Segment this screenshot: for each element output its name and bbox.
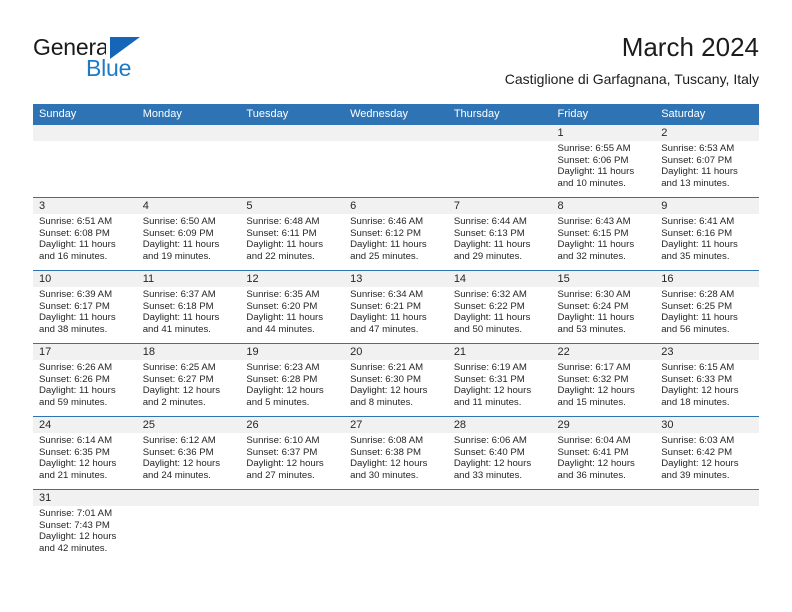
day-detail-line: and 11 minutes. — [454, 397, 546, 409]
calendar-week-row: 10Sunrise: 6:39 AMSunset: 6:17 PMDayligh… — [33, 270, 759, 343]
day-detail-line: Sunrise: 6:39 AM — [39, 289, 131, 301]
day-detail-line: Sunset: 6:35 PM — [39, 447, 131, 459]
day-detail-line: Sunrise: 6:25 AM — [143, 362, 235, 374]
day-detail-line: and 16 minutes. — [39, 251, 131, 263]
day-number: 14 — [448, 271, 552, 287]
day-details: Sunrise: 6:15 AMSunset: 6:33 PMDaylight:… — [655, 360, 759, 408]
day-number — [137, 125, 241, 141]
day-cell-empty — [448, 125, 552, 197]
day-details: Sunrise: 6:04 AMSunset: 6:41 PMDaylight:… — [552, 433, 656, 481]
calendar-page: General Blue March 2024 Castiglione di G… — [0, 0, 792, 612]
day-detail-line: Sunrise: 6:30 AM — [558, 289, 650, 301]
day-cell-17[interactable]: 17Sunrise: 6:26 AMSunset: 6:26 PMDayligh… — [33, 344, 137, 416]
day-cell-4[interactable]: 4Sunrise: 6:50 AMSunset: 6:09 PMDaylight… — [137, 198, 241, 270]
day-detail-line: Sunrise: 6:37 AM — [143, 289, 235, 301]
day-detail-line: Daylight: 12 hours — [350, 458, 442, 470]
day-detail-line: Daylight: 12 hours — [350, 385, 442, 397]
calendar-week-row: 31Sunrise: 7:01 AMSunset: 7:43 PMDayligh… — [33, 489, 759, 562]
day-cell-empty — [33, 125, 137, 197]
day-detail-line: Sunrise: 6:32 AM — [454, 289, 546, 301]
calendar-grid: SundayMondayTuesdayWednesdayThursdayFrid… — [33, 104, 759, 562]
calendar-week-row: 24Sunrise: 6:14 AMSunset: 6:35 PMDayligh… — [33, 416, 759, 489]
day-number — [448, 125, 552, 141]
day-number: 3 — [33, 198, 137, 214]
day-detail-line: Sunset: 6:20 PM — [246, 301, 338, 313]
day-details: Sunrise: 6:14 AMSunset: 6:35 PMDaylight:… — [33, 433, 137, 481]
day-cell-empty — [552, 490, 656, 562]
day-detail-line: Sunset: 6:08 PM — [39, 228, 131, 240]
day-number — [552, 490, 656, 506]
day-number: 1 — [552, 125, 656, 141]
day-detail-line: Sunset: 6:28 PM — [246, 374, 338, 386]
day-details — [448, 141, 552, 143]
day-detail-line: Sunset: 6:41 PM — [558, 447, 650, 459]
day-detail-line: Sunrise: 6:50 AM — [143, 216, 235, 228]
day-number: 20 — [344, 344, 448, 360]
day-detail-line: Daylight: 12 hours — [246, 458, 338, 470]
day-detail-line: Sunset: 6:32 PM — [558, 374, 650, 386]
day-details — [240, 506, 344, 508]
day-detail-line: Sunset: 6:26 PM — [39, 374, 131, 386]
day-detail-line: Sunrise: 6:46 AM — [350, 216, 442, 228]
day-details — [552, 506, 656, 508]
day-detail-line: Daylight: 11 hours — [350, 312, 442, 324]
day-detail-line: Sunset: 6:33 PM — [661, 374, 753, 386]
day-cell-31[interactable]: 31Sunrise: 7:01 AMSunset: 7:43 PMDayligh… — [33, 490, 137, 562]
day-detail-line: Daylight: 12 hours — [661, 385, 753, 397]
day-cell-25[interactable]: 25Sunrise: 6:12 AMSunset: 6:36 PMDayligh… — [137, 417, 241, 489]
day-detail-line: Sunrise: 6:04 AM — [558, 435, 650, 447]
day-cell-21[interactable]: 21Sunrise: 6:19 AMSunset: 6:31 PMDayligh… — [448, 344, 552, 416]
day-detail-line: Daylight: 12 hours — [39, 458, 131, 470]
day-detail-line: Sunrise: 7:01 AM — [39, 508, 131, 520]
day-detail-line: Sunset: 6:31 PM — [454, 374, 546, 386]
day-detail-line: Sunset: 6:40 PM — [454, 447, 546, 459]
day-number: 31 — [33, 490, 137, 506]
day-detail-line: Daylight: 11 hours — [143, 312, 235, 324]
day-cell-29[interactable]: 29Sunrise: 6:04 AMSunset: 6:41 PMDayligh… — [552, 417, 656, 489]
day-number — [344, 490, 448, 506]
day-detail-line: Sunset: 6:21 PM — [350, 301, 442, 313]
day-details: Sunrise: 6:48 AMSunset: 6:11 PMDaylight:… — [240, 214, 344, 262]
day-cell-10[interactable]: 10Sunrise: 6:39 AMSunset: 6:17 PMDayligh… — [33, 271, 137, 343]
day-detail-line: and 22 minutes. — [246, 251, 338, 263]
day-cell-12[interactable]: 12Sunrise: 6:35 AMSunset: 6:20 PMDayligh… — [240, 271, 344, 343]
day-cell-22[interactable]: 22Sunrise: 6:17 AMSunset: 6:32 PMDayligh… — [552, 344, 656, 416]
day-detail-line: and 59 minutes. — [39, 397, 131, 409]
day-cell-6[interactable]: 6Sunrise: 6:46 AMSunset: 6:12 PMDaylight… — [344, 198, 448, 270]
day-details: Sunrise: 6:21 AMSunset: 6:30 PMDaylight:… — [344, 360, 448, 408]
calendar-weeks: 1Sunrise: 6:55 AMSunset: 6:06 PMDaylight… — [33, 125, 759, 562]
day-detail-line: Daylight: 12 hours — [558, 458, 650, 470]
day-cell-empty — [448, 490, 552, 562]
day-details: Sunrise: 6:25 AMSunset: 6:27 PMDaylight:… — [137, 360, 241, 408]
day-detail-line: Sunset: 6:16 PM — [661, 228, 753, 240]
day-cell-empty — [655, 490, 759, 562]
day-detail-line: and 29 minutes. — [454, 251, 546, 263]
day-detail-line: Sunset: 6:30 PM — [350, 374, 442, 386]
day-number: 15 — [552, 271, 656, 287]
day-detail-line: Sunset: 6:25 PM — [661, 301, 753, 313]
day-number: 21 — [448, 344, 552, 360]
day-number — [448, 490, 552, 506]
day-detail-line: Daylight: 11 hours — [558, 312, 650, 324]
day-detail-line: Sunset: 6:37 PM — [246, 447, 338, 459]
day-details: Sunrise: 6:28 AMSunset: 6:25 PMDaylight:… — [655, 287, 759, 335]
day-number: 10 — [33, 271, 137, 287]
day-number: 2 — [655, 125, 759, 141]
day-details: Sunrise: 6:10 AMSunset: 6:37 PMDaylight:… — [240, 433, 344, 481]
general-blue-logo[interactable]: General Blue — [33, 36, 203, 92]
day-details: Sunrise: 6:41 AMSunset: 6:16 PMDaylight:… — [655, 214, 759, 262]
day-cell-empty — [240, 490, 344, 562]
day-number: 8 — [552, 198, 656, 214]
day-cell-28[interactable]: 28Sunrise: 6:06 AMSunset: 6:40 PMDayligh… — [448, 417, 552, 489]
day-detail-line: Sunset: 6:17 PM — [39, 301, 131, 313]
day-detail-line: and 13 minutes. — [661, 178, 753, 190]
day-detail-line: Daylight: 11 hours — [246, 239, 338, 251]
day-number: 25 — [137, 417, 241, 433]
day-number: 4 — [137, 198, 241, 214]
day-detail-line: Daylight: 11 hours — [661, 239, 753, 251]
day-detail-line: Sunrise: 6:06 AM — [454, 435, 546, 447]
day-number: 24 — [33, 417, 137, 433]
page-title: March 2024 — [239, 30, 759, 64]
day-detail-line: Sunset: 6:15 PM — [558, 228, 650, 240]
day-cell-26[interactable]: 26Sunrise: 6:10 AMSunset: 6:37 PMDayligh… — [240, 417, 344, 489]
day-detail-line: Sunset: 6:06 PM — [558, 155, 650, 167]
day-cell-11[interactable]: 11Sunrise: 6:37 AMSunset: 6:18 PMDayligh… — [137, 271, 241, 343]
day-detail-line: Daylight: 11 hours — [39, 385, 131, 397]
day-detail-line: Sunrise: 6:26 AM — [39, 362, 131, 374]
day-details: Sunrise: 6:51 AMSunset: 6:08 PMDaylight:… — [33, 214, 137, 262]
day-detail-line: Daylight: 11 hours — [558, 239, 650, 251]
day-number — [137, 490, 241, 506]
day-number: 19 — [240, 344, 344, 360]
day-detail-line: Sunrise: 6:23 AM — [246, 362, 338, 374]
day-detail-line: Sunrise: 6:48 AM — [246, 216, 338, 228]
day-details — [137, 506, 241, 508]
day-number: 11 — [137, 271, 241, 287]
day-number: 6 — [344, 198, 448, 214]
day-details: Sunrise: 6:43 AMSunset: 6:15 PMDaylight:… — [552, 214, 656, 262]
calendar-week-row: 1Sunrise: 6:55 AMSunset: 6:06 PMDaylight… — [33, 125, 759, 197]
day-detail-line: Sunset: 6:12 PM — [350, 228, 442, 240]
day-number: 22 — [552, 344, 656, 360]
day-detail-line: Sunrise: 6:53 AM — [661, 143, 753, 155]
day-detail-line: Daylight: 11 hours — [350, 239, 442, 251]
day-number: 23 — [655, 344, 759, 360]
day-detail-line: Sunset: 6:11 PM — [246, 228, 338, 240]
day-detail-line: and 25 minutes. — [350, 251, 442, 263]
day-detail-line: Daylight: 11 hours — [246, 312, 338, 324]
day-number — [344, 125, 448, 141]
day-detail-line: Daylight: 11 hours — [143, 239, 235, 251]
day-number: 5 — [240, 198, 344, 214]
day-cell-empty — [344, 125, 448, 197]
day-detail-line: Daylight: 12 hours — [558, 385, 650, 397]
day-cell-3[interactable]: 3Sunrise: 6:51 AMSunset: 6:08 PMDaylight… — [33, 198, 137, 270]
logo-text-blue: Blue — [86, 57, 131, 80]
day-number: 16 — [655, 271, 759, 287]
day-detail-line: and 56 minutes. — [661, 324, 753, 336]
day-details — [137, 141, 241, 143]
day-number: 13 — [344, 271, 448, 287]
day-detail-line: and 33 minutes. — [454, 470, 546, 482]
day-cell-2[interactable]: 2Sunrise: 6:53 AMSunset: 6:07 PMDaylight… — [655, 125, 759, 197]
day-cell-27[interactable]: 27Sunrise: 6:08 AMSunset: 6:38 PMDayligh… — [344, 417, 448, 489]
day-details: Sunrise: 6:26 AMSunset: 6:26 PMDaylight:… — [33, 360, 137, 408]
day-number: 7 — [448, 198, 552, 214]
day-detail-line: Sunset: 6:18 PM — [143, 301, 235, 313]
day-cell-empty — [240, 125, 344, 197]
day-detail-line: Sunrise: 6:08 AM — [350, 435, 442, 447]
day-detail-line: and 19 minutes. — [143, 251, 235, 263]
day-cell-19[interactable]: 19Sunrise: 6:23 AMSunset: 6:28 PMDayligh… — [240, 344, 344, 416]
day-cell-14[interactable]: 14Sunrise: 6:32 AMSunset: 6:22 PMDayligh… — [448, 271, 552, 343]
day-detail-line: Sunrise: 6:03 AM — [661, 435, 753, 447]
day-details: Sunrise: 6:50 AMSunset: 6:09 PMDaylight:… — [137, 214, 241, 262]
day-detail-line: Daylight: 12 hours — [454, 385, 546, 397]
day-detail-line: Daylight: 11 hours — [39, 312, 131, 324]
weekday-header-wednesday: Wednesday — [344, 104, 448, 125]
day-detail-line: Daylight: 12 hours — [454, 458, 546, 470]
day-details: Sunrise: 6:37 AMSunset: 6:18 PMDaylight:… — [137, 287, 241, 335]
day-details — [240, 141, 344, 143]
day-cell-15[interactable]: 15Sunrise: 6:30 AMSunset: 6:24 PMDayligh… — [552, 271, 656, 343]
day-detail-line: Sunrise: 6:19 AM — [454, 362, 546, 374]
day-detail-line: Daylight: 11 hours — [454, 312, 546, 324]
weekday-header-friday: Friday — [552, 104, 656, 125]
day-detail-line: Daylight: 11 hours — [454, 239, 546, 251]
weekday-header-thursday: Thursday — [448, 104, 552, 125]
day-cell-24[interactable]: 24Sunrise: 6:14 AMSunset: 6:35 PMDayligh… — [33, 417, 137, 489]
day-cell-18[interactable]: 18Sunrise: 6:25 AMSunset: 6:27 PMDayligh… — [137, 344, 241, 416]
day-details: Sunrise: 6:35 AMSunset: 6:20 PMDaylight:… — [240, 287, 344, 335]
day-details: Sunrise: 6:17 AMSunset: 6:32 PMDaylight:… — [552, 360, 656, 408]
day-detail-line: Sunset: 6:27 PM — [143, 374, 235, 386]
day-detail-line: and 36 minutes. — [558, 470, 650, 482]
day-cell-empty — [137, 125, 241, 197]
day-number: 28 — [448, 417, 552, 433]
day-number: 30 — [655, 417, 759, 433]
day-details: Sunrise: 6:23 AMSunset: 6:28 PMDaylight:… — [240, 360, 344, 408]
day-cell-8[interactable]: 8Sunrise: 6:43 AMSunset: 6:15 PMDaylight… — [552, 198, 656, 270]
day-cell-5[interactable]: 5Sunrise: 6:48 AMSunset: 6:11 PMDaylight… — [240, 198, 344, 270]
day-detail-line: and 10 minutes. — [558, 178, 650, 190]
calendar-week-row: 3Sunrise: 6:51 AMSunset: 6:08 PMDaylight… — [33, 197, 759, 270]
day-details: Sunrise: 6:34 AMSunset: 6:21 PMDaylight:… — [344, 287, 448, 335]
day-detail-line: and 47 minutes. — [350, 324, 442, 336]
weekday-header-tuesday: Tuesday — [240, 104, 344, 125]
day-cell-30[interactable]: 30Sunrise: 6:03 AMSunset: 6:42 PMDayligh… — [655, 417, 759, 489]
weekday-header-saturday: Saturday — [655, 104, 759, 125]
day-number: 27 — [344, 417, 448, 433]
day-number — [240, 125, 344, 141]
day-number: 18 — [137, 344, 241, 360]
page-header: General Blue March 2024 Castiglione di G… — [33, 30, 759, 98]
day-number: 12 — [240, 271, 344, 287]
day-detail-line: Sunset: 6:13 PM — [454, 228, 546, 240]
day-detail-line: Sunset: 6:09 PM — [143, 228, 235, 240]
day-detail-line: and 50 minutes. — [454, 324, 546, 336]
day-detail-line: Daylight: 12 hours — [39, 531, 131, 543]
day-detail-line: Sunset: 6:42 PM — [661, 447, 753, 459]
day-detail-line: Sunset: 6:38 PM — [350, 447, 442, 459]
day-detail-line: Sunset: 6:24 PM — [558, 301, 650, 313]
day-detail-line: Sunrise: 6:21 AM — [350, 362, 442, 374]
day-detail-line: and 44 minutes. — [246, 324, 338, 336]
day-detail-line: and 15 minutes. — [558, 397, 650, 409]
day-cell-9[interactable]: 9Sunrise: 6:41 AMSunset: 6:16 PMDaylight… — [655, 198, 759, 270]
day-number: 29 — [552, 417, 656, 433]
day-details: Sunrise: 6:46 AMSunset: 6:12 PMDaylight:… — [344, 214, 448, 262]
day-cell-13[interactable]: 13Sunrise: 6:34 AMSunset: 6:21 PMDayligh… — [344, 271, 448, 343]
day-cell-20[interactable]: 20Sunrise: 6:21 AMSunset: 6:30 PMDayligh… — [344, 344, 448, 416]
day-cell-16[interactable]: 16Sunrise: 6:28 AMSunset: 6:25 PMDayligh… — [655, 271, 759, 343]
day-detail-line: Sunset: 7:43 PM — [39, 520, 131, 532]
day-cell-empty — [344, 490, 448, 562]
day-detail-line: and 27 minutes. — [246, 470, 338, 482]
day-number — [240, 490, 344, 506]
day-detail-line: Daylight: 11 hours — [661, 312, 753, 324]
day-cell-empty — [137, 490, 241, 562]
day-detail-line: and 24 minutes. — [143, 470, 235, 482]
day-detail-line: Sunrise: 6:34 AM — [350, 289, 442, 301]
day-details: Sunrise: 6:44 AMSunset: 6:13 PMDaylight:… — [448, 214, 552, 262]
day-details — [33, 141, 137, 143]
day-detail-line: and 32 minutes. — [558, 251, 650, 263]
day-detail-line: Sunrise: 6:43 AM — [558, 216, 650, 228]
day-details: Sunrise: 6:06 AMSunset: 6:40 PMDaylight:… — [448, 433, 552, 481]
weekday-header-row: SundayMondayTuesdayWednesdayThursdayFrid… — [33, 104, 759, 125]
day-detail-line: Sunrise: 6:28 AM — [661, 289, 753, 301]
day-details — [344, 506, 448, 508]
weekday-header-monday: Monday — [137, 104, 241, 125]
day-detail-line: Sunrise: 6:17 AM — [558, 362, 650, 374]
day-detail-line: Sunrise: 6:14 AM — [39, 435, 131, 447]
day-detail-line: Sunrise: 6:55 AM — [558, 143, 650, 155]
day-details: Sunrise: 6:32 AMSunset: 6:22 PMDaylight:… — [448, 287, 552, 335]
day-detail-line: Sunrise: 6:51 AM — [39, 216, 131, 228]
day-details: Sunrise: 6:12 AMSunset: 6:36 PMDaylight:… — [137, 433, 241, 481]
day-detail-line: Daylight: 11 hours — [39, 239, 131, 251]
day-detail-line: Sunset: 6:22 PM — [454, 301, 546, 313]
day-detail-line: Daylight: 12 hours — [246, 385, 338, 397]
day-number — [33, 125, 137, 141]
day-detail-line: and 39 minutes. — [661, 470, 753, 482]
day-details — [448, 506, 552, 508]
day-number: 9 — [655, 198, 759, 214]
day-detail-line: and 18 minutes. — [661, 397, 753, 409]
day-details: Sunrise: 6:19 AMSunset: 6:31 PMDaylight:… — [448, 360, 552, 408]
day-detail-line: and 21 minutes. — [39, 470, 131, 482]
day-detail-line: Sunrise: 6:15 AM — [661, 362, 753, 374]
day-details: Sunrise: 6:55 AMSunset: 6:06 PMDaylight:… — [552, 141, 656, 189]
day-cell-7[interactable]: 7Sunrise: 6:44 AMSunset: 6:13 PMDaylight… — [448, 198, 552, 270]
day-details — [344, 141, 448, 143]
day-detail-line: Sunset: 6:07 PM — [661, 155, 753, 167]
day-detail-line: Sunrise: 6:10 AM — [246, 435, 338, 447]
day-details: Sunrise: 6:39 AMSunset: 6:17 PMDaylight:… — [33, 287, 137, 335]
day-detail-line: Sunset: 6:36 PM — [143, 447, 235, 459]
day-details: Sunrise: 6:03 AMSunset: 6:42 PMDaylight:… — [655, 433, 759, 481]
calendar-week-row: 17Sunrise: 6:26 AMSunset: 6:26 PMDayligh… — [33, 343, 759, 416]
day-detail-line: Sunrise: 6:35 AM — [246, 289, 338, 301]
day-cell-23[interactable]: 23Sunrise: 6:15 AMSunset: 6:33 PMDayligh… — [655, 344, 759, 416]
day-detail-line: and 30 minutes. — [350, 470, 442, 482]
day-detail-line: and 41 minutes. — [143, 324, 235, 336]
day-detail-line: Daylight: 12 hours — [143, 458, 235, 470]
day-details — [655, 506, 759, 508]
day-detail-line: Daylight: 12 hours — [143, 385, 235, 397]
day-number — [655, 490, 759, 506]
day-detail-line: and 35 minutes. — [661, 251, 753, 263]
day-details: Sunrise: 6:53 AMSunset: 6:07 PMDaylight:… — [655, 141, 759, 189]
day-detail-line: Daylight: 11 hours — [661, 166, 753, 178]
day-detail-line: Sunrise: 6:44 AM — [454, 216, 546, 228]
day-detail-line: and 53 minutes. — [558, 324, 650, 336]
title-block: March 2024 Castiglione di Garfagnana, Tu… — [239, 30, 759, 90]
page-subtitle: Castiglione di Garfagnana, Tuscany, Ital… — [239, 68, 759, 90]
day-cell-1[interactable]: 1Sunrise: 6:55 AMSunset: 6:06 PMDaylight… — [552, 125, 656, 197]
day-detail-line: Sunrise: 6:12 AM — [143, 435, 235, 447]
day-details: Sunrise: 6:08 AMSunset: 6:38 PMDaylight:… — [344, 433, 448, 481]
day-detail-line: Sunrise: 6:41 AM — [661, 216, 753, 228]
day-details: Sunrise: 7:01 AMSunset: 7:43 PMDaylight:… — [33, 506, 137, 554]
day-number: 17 — [33, 344, 137, 360]
day-number: 26 — [240, 417, 344, 433]
day-detail-line: and 42 minutes. — [39, 543, 131, 555]
day-detail-line: and 8 minutes. — [350, 397, 442, 409]
day-detail-line: Daylight: 11 hours — [558, 166, 650, 178]
day-details: Sunrise: 6:30 AMSunset: 6:24 PMDaylight:… — [552, 287, 656, 335]
weekday-header-sunday: Sunday — [33, 104, 137, 125]
day-detail-line: Daylight: 12 hours — [661, 458, 753, 470]
day-detail-line: and 5 minutes. — [246, 397, 338, 409]
day-detail-line: and 2 minutes. — [143, 397, 235, 409]
day-detail-line: and 38 minutes. — [39, 324, 131, 336]
